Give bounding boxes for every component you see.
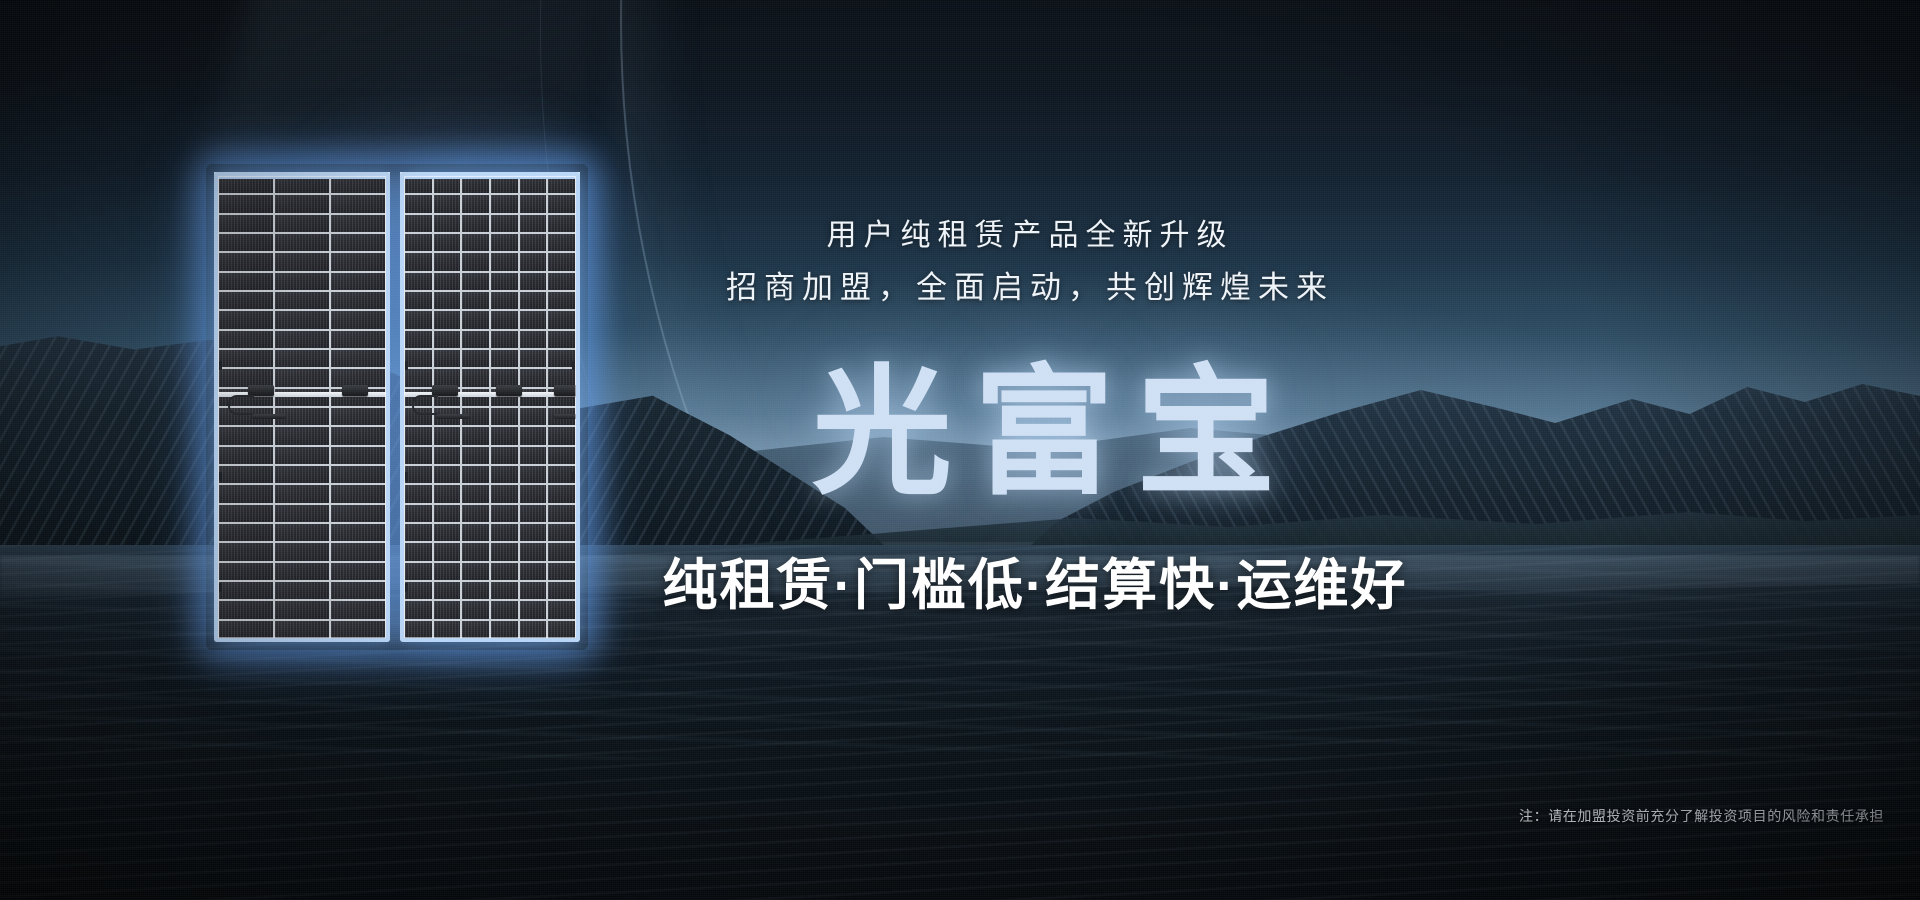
solar-cell [331,176,385,193]
solar-cell [434,331,461,348]
solar-cell [331,524,385,541]
solar-cell [275,331,329,348]
solar-cell [405,621,432,638]
solar-cell [219,621,273,638]
brand-title: 光富宝 [0,350,1920,515]
solar-cell [491,524,518,541]
solar-cell [434,621,461,638]
solar-cell [405,331,432,348]
solar-cell [548,524,575,541]
solar-cell [405,311,432,328]
solar-cell [434,176,461,193]
solar-cell [462,524,489,541]
solar-cell [462,176,489,193]
headline-primary: 用户纯租赁产品全新升级 [0,210,1920,254]
tagline: 纯租赁·门槛低·结算快·运维好 [0,540,1920,620]
solar-cell [520,524,547,541]
solar-cell [548,176,575,193]
solar-cell [331,311,385,328]
disclaimer-footnote: 注：请在加盟投资前充分了解投资项目的风险和责任承担 [1519,806,1884,826]
solar-cell [405,524,432,541]
solar-cell [219,524,273,541]
solar-cell [548,621,575,638]
solar-cell [548,331,575,348]
headline-secondary: 招商加盟，全面启动，共创辉煌未来 [0,262,1920,307]
solar-cell [520,176,547,193]
solar-cell [331,621,385,638]
solar-cell [219,176,273,193]
solar-cell [405,176,432,193]
solar-cell [520,311,547,328]
solar-cell [331,331,385,348]
solar-cell [520,331,547,348]
solar-cell [275,524,329,541]
solar-cell [520,621,547,638]
solar-cell [275,621,329,638]
solar-cell [219,331,273,348]
poster-canvas: 用户纯租赁产品全新升级 招商加盟，全面启动，共创辉煌未来 光富宝 纯租赁·门槛低… [0,0,1920,900]
solar-cell [491,311,518,328]
solar-cell [462,311,489,328]
solar-cell [275,311,329,328]
solar-cell [462,621,489,638]
solar-cell [491,176,518,193]
solar-cell [491,331,518,348]
solar-cell [434,311,461,328]
solar-cell [491,621,518,638]
solar-cell [434,524,461,541]
solar-cell [275,176,329,193]
solar-cell [219,311,273,328]
solar-cell [462,331,489,348]
solar-cell [548,311,575,328]
